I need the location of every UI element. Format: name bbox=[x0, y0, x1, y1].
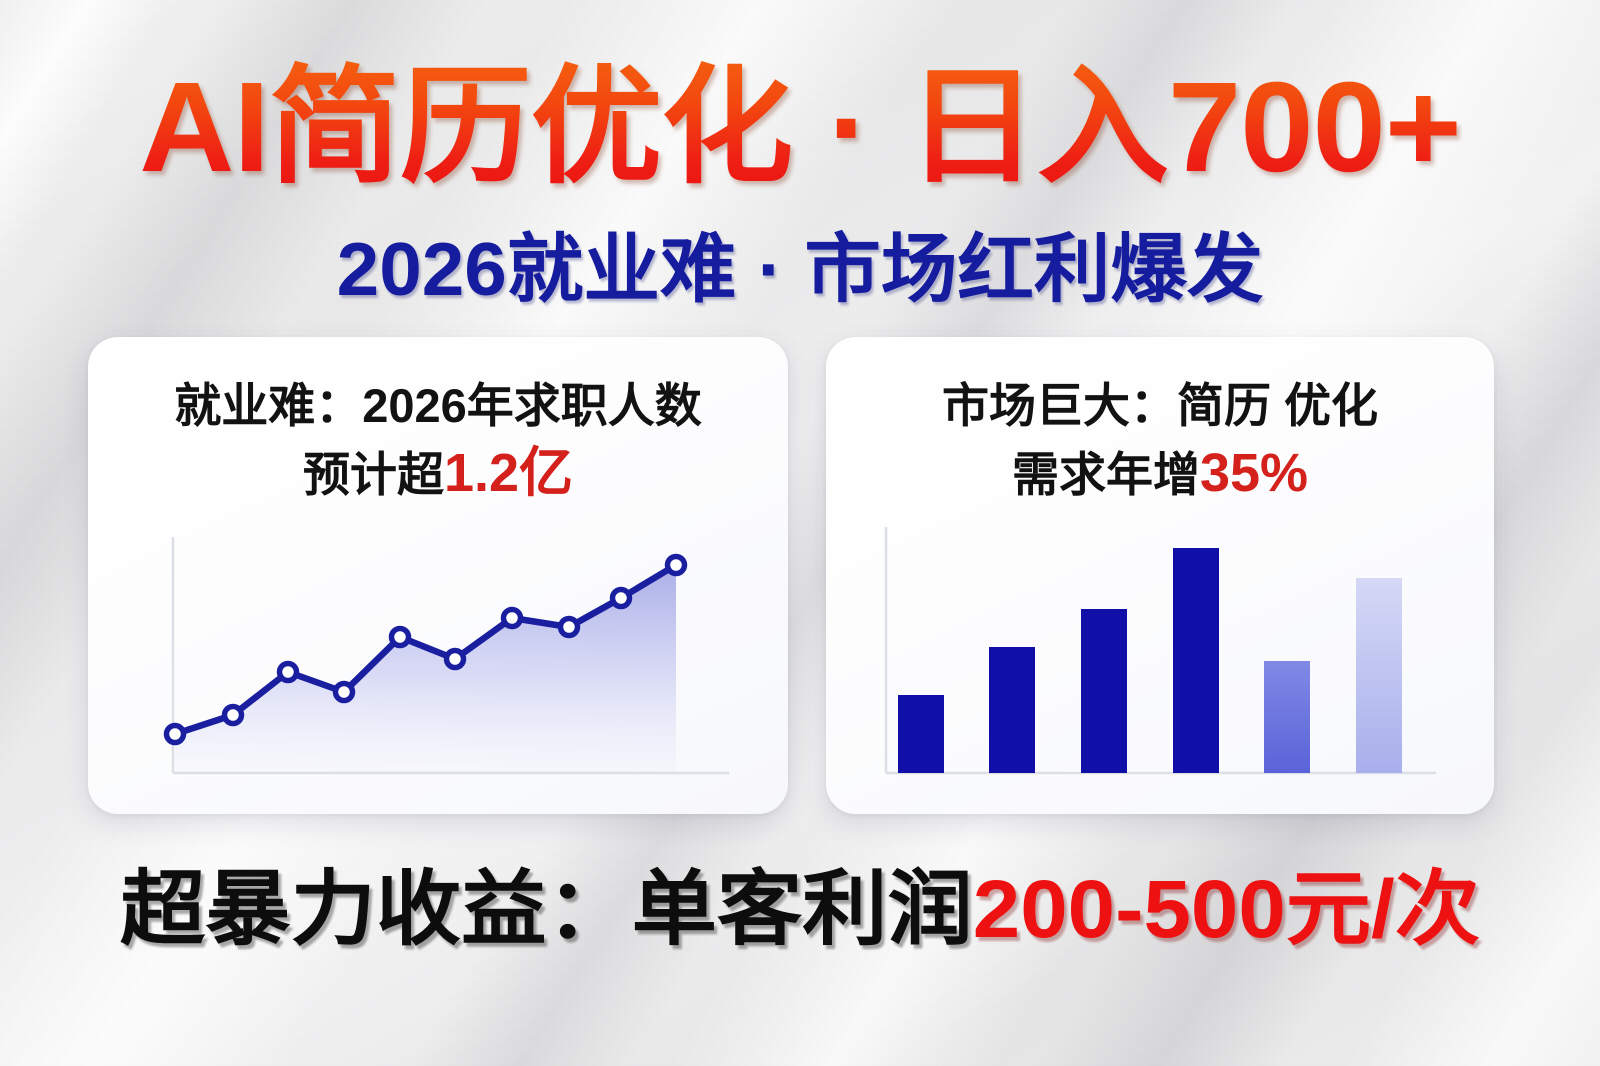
card-employment-line2: 预计超1.2亿 bbox=[88, 438, 788, 510]
card-employment-text: 就业难：2026年求职人数 预计超1.2亿 bbox=[88, 375, 788, 509]
line-chart-markers bbox=[167, 557, 685, 743]
card-market-highlight: 35% bbox=[1200, 443, 1308, 503]
bar-6 bbox=[1356, 578, 1402, 773]
card-employment-line2-prefix: 预计超 bbox=[303, 448, 444, 501]
bar-5 bbox=[1264, 661, 1310, 773]
card-market-line2: 需求年增35% bbox=[826, 438, 1494, 510]
poster-subtitle: 2026就业难 · 市场红利爆发 bbox=[0, 208, 1600, 317]
bar-4 bbox=[1173, 548, 1219, 773]
bottom-banner: 超暴力收益：单客利润200-500元/次 bbox=[0, 865, 1600, 955]
line-chart-area bbox=[175, 565, 676, 773]
bottom-banner-black: 超暴力收益：单客利润 bbox=[120, 864, 973, 955]
card-market-text: 市场巨大：简历 优化 需求年增35% bbox=[826, 375, 1494, 509]
card-employment-highlight: 1.2亿 bbox=[444, 443, 573, 503]
poster-root: AI简历优化 · 日入700+ 2026就业难 · 市场红利爆发 就业难：202… bbox=[0, 0, 1600, 1066]
card-market-line1: 市场巨大：简历 优化 bbox=[826, 375, 1494, 438]
bottom-banner-red: 200-500元/次 bbox=[973, 864, 1480, 955]
bar-chart-bars bbox=[898, 548, 1402, 773]
card-employment: 就业难：2026年求职人数 预计超1.2亿 bbox=[88, 337, 788, 814]
poster-title: AI简历优化 · 日入700+ bbox=[0, 52, 1600, 203]
bar-2 bbox=[989, 647, 1035, 773]
card-market-line2-prefix: 需求年增 bbox=[1012, 448, 1200, 501]
bar-1 bbox=[898, 695, 944, 773]
bar-3 bbox=[1081, 609, 1127, 773]
card-market: 市场巨大：简历 优化 需求年增35% bbox=[826, 337, 1494, 814]
line-chart-series bbox=[175, 565, 676, 734]
card-employment-line1: 就业难：2026年求职人数 bbox=[88, 375, 788, 438]
